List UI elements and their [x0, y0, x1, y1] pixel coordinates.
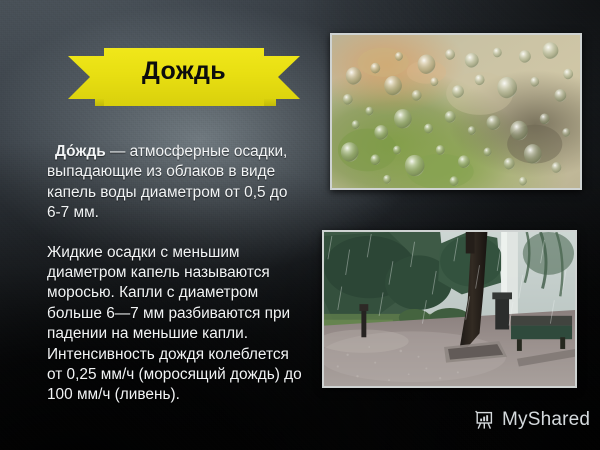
lead-term-dozhd: До́ждь: [55, 143, 106, 160]
slide-title: Дождь: [68, 56, 300, 86]
body-text-block: До́ждь — атмосферные осадки, выпадающие …: [47, 142, 305, 406]
photo-rain-in-park-image: [324, 232, 575, 386]
paragraph-details: Жидкие осадки с меньшим диаметром капель…: [47, 243, 305, 406]
photo-rain-in-park: [322, 230, 577, 388]
paragraph-details-text: Жидкие осадки с меньшим диаметром капель…: [47, 244, 302, 404]
slide-canvas: Дождь До́ждь — атмосферные осадки, выпад…: [0, 0, 600, 450]
photo-raindrops-on-window: [330, 33, 582, 190]
myshared-watermark: MyShared: [474, 409, 590, 431]
paragraph-definition: До́ждь — атмосферные осадки, выпадающие …: [47, 142, 305, 224]
flipchart-chart-icon: [474, 409, 496, 431]
photo-raindrops-image: [332, 35, 580, 188]
title-ribbon: Дождь: [68, 44, 300, 112]
myshared-watermark-text: MyShared: [502, 409, 590, 431]
